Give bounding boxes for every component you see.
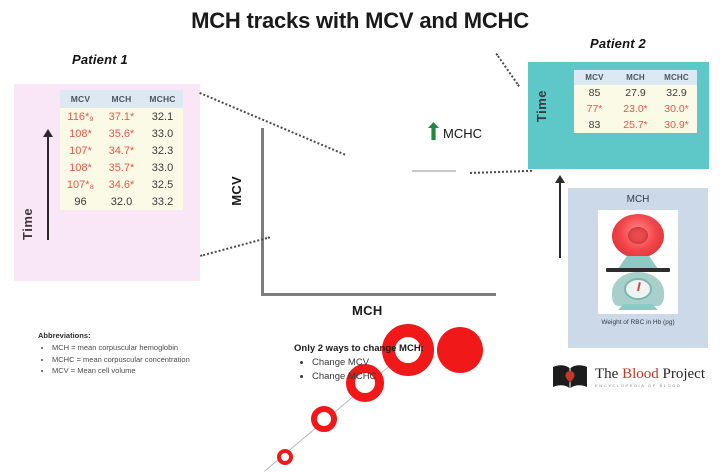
patient-2-label: Patient 2 xyxy=(590,36,646,51)
chart-connector-line xyxy=(412,170,456,172)
chart-x-axis-label: MCH xyxy=(352,303,383,318)
column-header-mch: MCH xyxy=(615,70,656,85)
mch-card-title: MCH xyxy=(568,194,708,205)
table-row: 8527.932.9 xyxy=(574,85,697,101)
ways-heading: Only 2 ways to change MCH: xyxy=(294,343,494,354)
column-header-mcv: MCV xyxy=(574,70,615,85)
table-cell-mch: 37.1* xyxy=(101,108,142,125)
table-cell-mchc: 33.2 xyxy=(142,193,183,210)
table-cell-mch: 35.6* xyxy=(101,125,142,142)
leader-line-p1-bottom xyxy=(200,236,270,257)
table-cell-mch: 34.6* xyxy=(101,176,142,193)
ways-block: Only 2 ways to change MCH: Change MCVCha… xyxy=(294,343,494,385)
table-cell-mch: 27.9 xyxy=(615,85,656,101)
table-row: 107*34.7*32.3 xyxy=(60,142,183,159)
table-row: 116*₉37.1*32.1 xyxy=(60,108,183,125)
column-header-mch: MCH xyxy=(101,90,142,108)
table-cell-mcv: 83 xyxy=(574,117,615,133)
leader-line-p2-bottom xyxy=(470,170,532,174)
table-cell-mchc: 32.5 xyxy=(142,176,183,193)
chart-y-axis xyxy=(261,128,264,296)
chart-y-axis-label: MCV xyxy=(229,176,244,206)
table-header-row: MCV MCH MCHC xyxy=(60,90,183,108)
table-row: 107*₈34.6*32.5 xyxy=(60,176,183,193)
arrow-up-icon xyxy=(428,122,439,145)
ways-list: Change MCVChange MCHC xyxy=(294,356,494,385)
brand-logo-text: The Blood Project ENCYCLOPEDIA OF BLOOD xyxy=(595,367,705,388)
table-row: 108*35.7*33.0 xyxy=(60,159,183,176)
mchc-annotation: MCHC xyxy=(428,122,482,145)
chart-x-axis xyxy=(261,293,496,296)
logo-word-project: Project xyxy=(663,366,706,382)
patient-1-time-label: Time xyxy=(20,130,46,240)
list-item: Change MCHC xyxy=(312,370,494,384)
brand-logo-wordmark: The Blood Project xyxy=(595,367,705,382)
patient-2-time-label: Time xyxy=(534,90,549,122)
abbreviations-block: Abbreviations: MCH = mean corpuscular he… xyxy=(38,331,278,377)
table-cell-mch: 23.0* xyxy=(615,101,656,117)
table-cell-mch: 32.0 xyxy=(101,193,142,210)
table-row: 108*35.6*33.0 xyxy=(60,125,183,142)
table-cell-mcv: 107*₈ xyxy=(60,176,101,193)
table-cell-mch: 34.7* xyxy=(101,142,142,159)
brand-logo: The Blood Project ENCYCLOPEDIA OF BLOOD xyxy=(552,364,705,390)
list-item: MCH = mean corpuscular hemoglobin xyxy=(52,342,278,354)
table-cell-mcv: 108* xyxy=(60,125,101,142)
abbreviations-list: MCH = mean corpuscular hemoglobinMCHC = … xyxy=(38,342,278,377)
patient-2-table: MCV MCH MCHC 8527.932.977*23.0*30.0*8325… xyxy=(574,70,697,133)
column-header-mcv: MCV xyxy=(60,90,101,108)
table-cell-mch: 25.7* xyxy=(615,117,656,133)
table-header-row: MCV MCH MCHC xyxy=(574,70,697,85)
table-cell-mchc: 32.9 xyxy=(656,85,697,101)
patient-2-time-arrow-icon xyxy=(559,182,561,258)
page-title: MCH tracks with MCV and MCHC xyxy=(0,8,720,34)
mch-card-caption: Weight of RBC in Hb (pg) xyxy=(570,318,706,328)
leader-line-p1-top xyxy=(199,92,345,156)
list-item: Change MCV xyxy=(312,356,494,370)
table-cell-mcv: 116*₉ xyxy=(60,108,101,125)
red-blood-cell-center xyxy=(628,227,648,244)
open-book-icon xyxy=(552,364,588,390)
logo-word-the: The xyxy=(595,366,622,382)
table-cell-mcv: 108* xyxy=(60,159,101,176)
table-cell-mchc: 30.0* xyxy=(656,101,697,117)
mchc-annotation-label: MCHC xyxy=(443,126,482,141)
chart-point-open xyxy=(311,406,337,432)
abbreviations-heading: Abbreviations: xyxy=(38,331,278,340)
table-cell-mcv: 96 xyxy=(60,193,101,210)
table-cell-mchc: 32.3 xyxy=(142,142,183,159)
leader-line-p2-top xyxy=(495,53,520,87)
list-item: MCHC = mean corpuscular concentration xyxy=(52,354,278,366)
table-cell-mcv: 85 xyxy=(574,85,615,101)
table-cell-mchc: 33.0 xyxy=(142,125,183,142)
table-row: 8325.7*30.9* xyxy=(574,117,697,133)
table-cell-mchc: 32.1 xyxy=(142,108,183,125)
brand-logo-subtitle: ENCYCLOPEDIA OF BLOOD xyxy=(595,384,705,388)
patient-1-table: MCV MCH MCHC 116*₉37.1*32.1108*35.6*33.0… xyxy=(60,90,183,210)
table-cell-mcv: 107* xyxy=(60,142,101,159)
chart-point-open xyxy=(277,449,293,465)
table-row: 9632.033.2 xyxy=(60,193,183,210)
patient-1-time-arrow-icon xyxy=(47,136,49,240)
logo-word-blood: Blood xyxy=(622,366,662,382)
list-item: MCV = Mean cell volume xyxy=(52,365,278,377)
scale-foot-icon xyxy=(618,304,658,310)
table-cell-mcv: 77* xyxy=(574,101,615,117)
table-cell-mchc: 33.0 xyxy=(142,159,183,176)
patient-1-label: Patient 1 xyxy=(72,52,128,67)
table-cell-mch: 35.7* xyxy=(101,159,142,176)
table-cell-mchc: 30.9* xyxy=(656,117,697,133)
table-row: 77*23.0*30.0* xyxy=(574,101,697,117)
column-header-mchc: MCHC xyxy=(656,70,697,85)
column-header-mchc: MCHC xyxy=(142,90,183,108)
